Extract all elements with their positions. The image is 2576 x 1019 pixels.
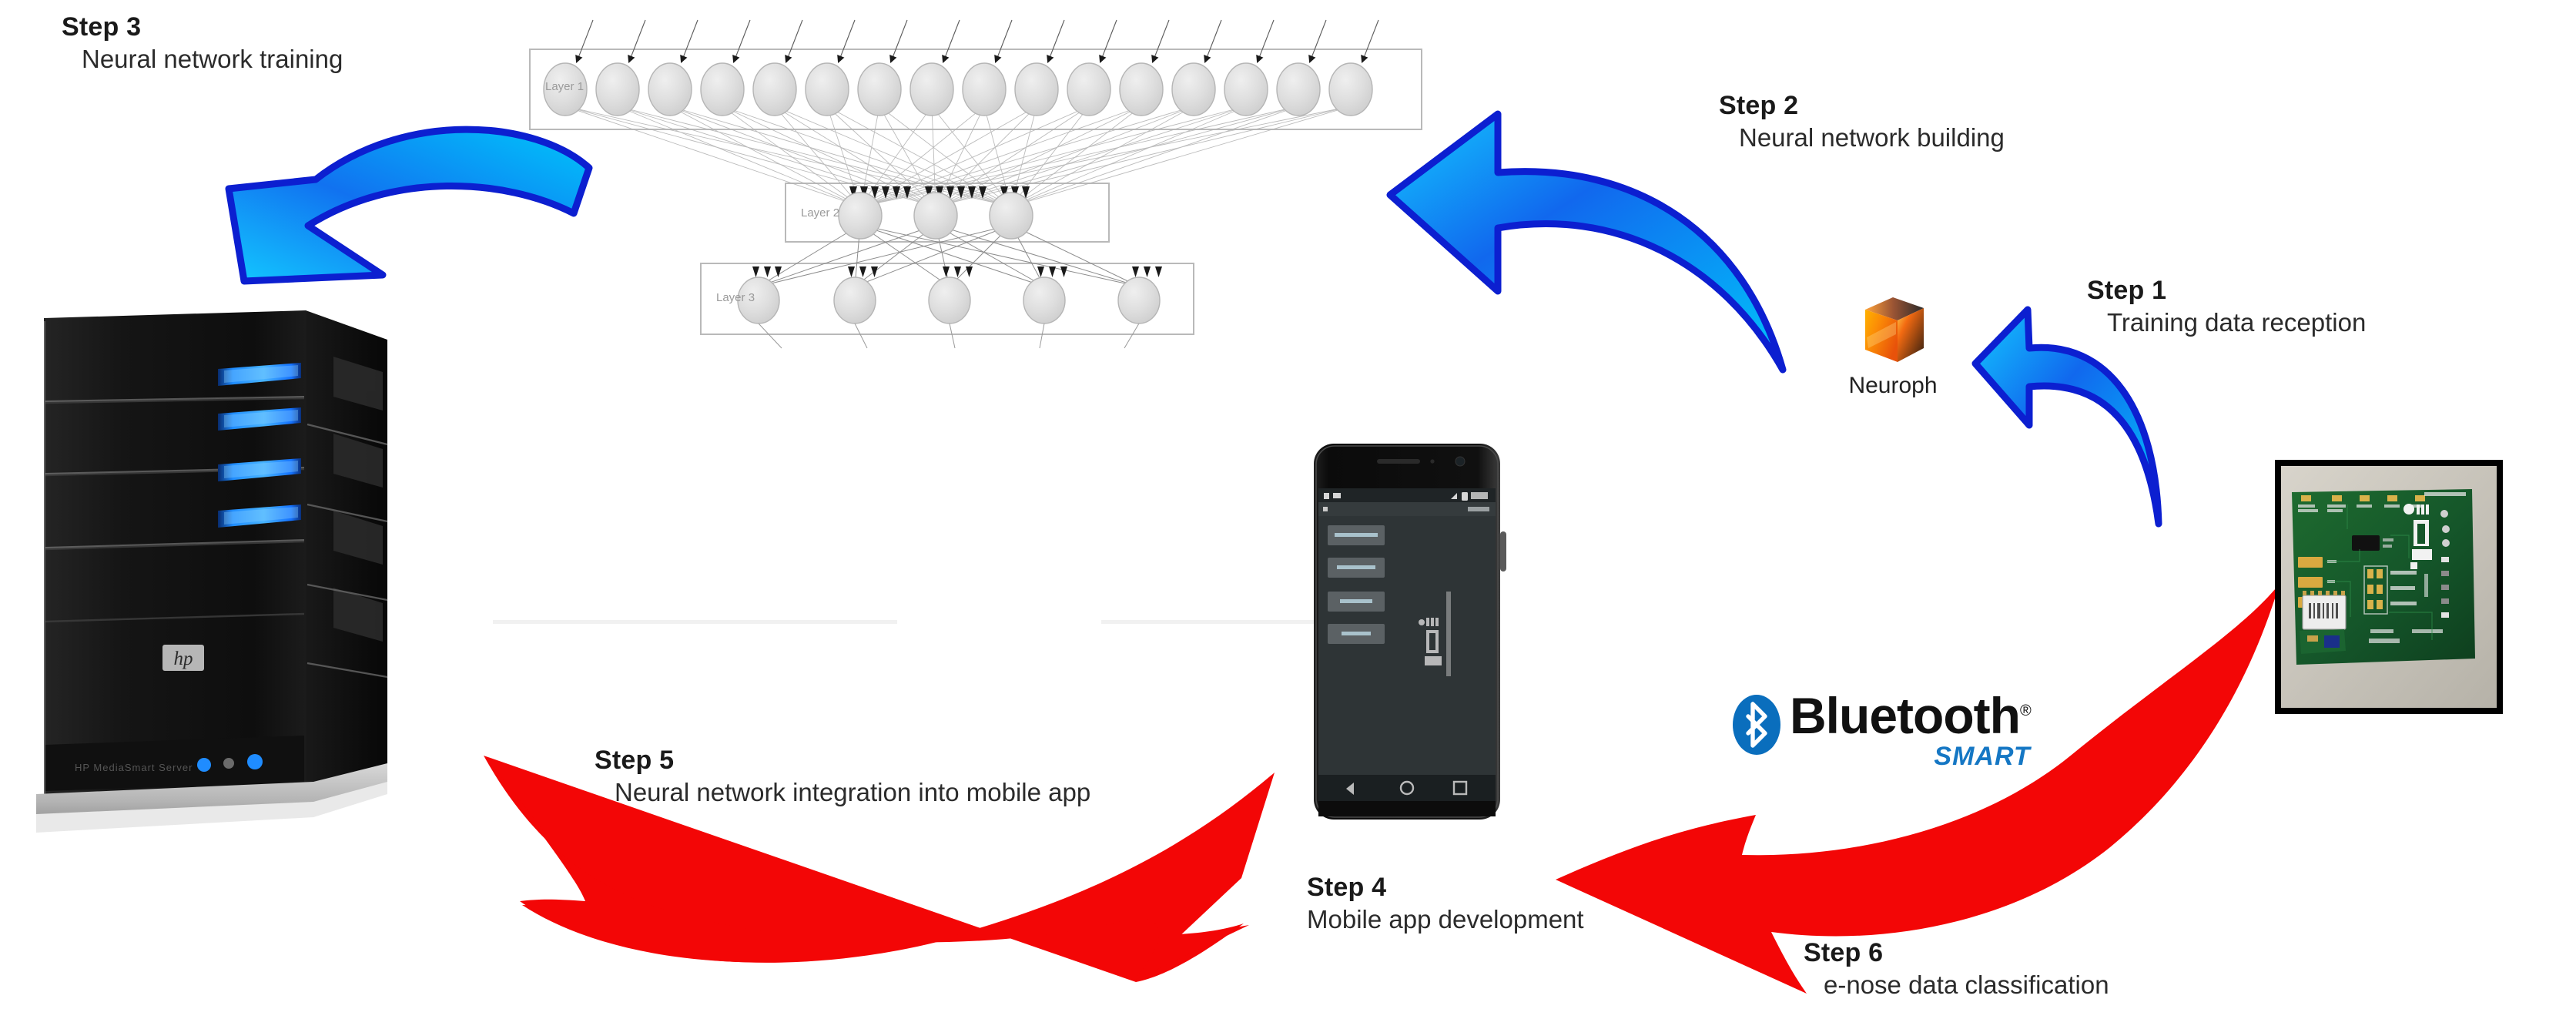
step-1-blue-arrow (1968, 293, 2260, 547)
neuron (1118, 277, 1160, 323)
registered-mark: ® (2020, 702, 2031, 719)
step-3-label: Step 3 Neural network training (62, 12, 343, 74)
neuron (1023, 277, 1065, 323)
neuron (1015, 63, 1058, 116)
neuroph-label: Neuroph (1808, 373, 1978, 399)
svg-text:hp: hp (174, 649, 193, 669)
proximity-sensor (1430, 459, 1434, 463)
neuron (1329, 63, 1372, 116)
layer-2-neurons (839, 193, 1033, 239)
navigation-bar[interactable] (1318, 775, 1496, 801)
neuron (753, 63, 796, 116)
neuron (1120, 63, 1163, 116)
neuron (929, 277, 970, 323)
step-3-number: Step 3 (62, 12, 343, 42)
diagram-canvas: Step 3 Neural network training Step 2 Ne… (0, 0, 2576, 1019)
bluetooth-word-text: Bluetooth (1790, 687, 2020, 744)
neuroph-cube-icon (1859, 294, 1927, 365)
step-3-description: Neural network training (62, 45, 343, 74)
layer1-to-layer2-edges (565, 106, 1351, 206)
neuron (914, 193, 957, 239)
bluetooth-smart-logo: Bluetooth® SMART (1733, 692, 2031, 772)
pcb-version-text (2424, 492, 2466, 496)
neuron (1224, 63, 1268, 116)
smartphone (1309, 441, 1533, 826)
neuron (990, 193, 1033, 239)
app-action-bar (1318, 502, 1496, 516)
neuron (839, 193, 882, 239)
pcb-ic-chip (2352, 535, 2380, 551)
earpiece (1377, 459, 1420, 464)
bluetooth-smart-sub: SMART (1780, 742, 2031, 772)
step-6-description: e-nose data classification (1804, 970, 2109, 1000)
power-button[interactable] (1500, 531, 1506, 572)
layer-1-label: Layer 1 (545, 80, 584, 93)
step-5-red-arrow (462, 736, 1317, 982)
neuron (834, 277, 876, 323)
hp-server: hp HP MediaSmart Server (27, 273, 412, 847)
bluetooth-icon (1733, 695, 1780, 755)
status-bar (1318, 488, 1496, 502)
neuron (910, 63, 953, 116)
layer-3-output-stubs (759, 323, 1139, 348)
hp-logo: hp (162, 645, 204, 671)
server-model-text: HP MediaSmart Server (75, 762, 193, 773)
layer-3-neurons (738, 277, 1160, 323)
neuron (1172, 63, 1215, 116)
neuron (806, 63, 849, 116)
step-2-blue-arrow (1382, 99, 1868, 399)
layer-1-input-arrows (577, 20, 1378, 62)
neuroph-logo: Neuroph (1808, 294, 1978, 399)
neuron (701, 63, 744, 116)
layer-2-label: Layer 2 (801, 206, 839, 220)
page-rule-left (493, 620, 897, 624)
layer-1-neurons (544, 63, 1372, 116)
neuron (1067, 63, 1110, 116)
front-camera (1455, 457, 1465, 466)
neuron (1277, 63, 1320, 116)
neuron (858, 63, 901, 116)
neuron (648, 63, 692, 116)
bluetooth-wordmark: Bluetooth® (1790, 692, 2031, 740)
enose-pcb-photo (2273, 458, 2543, 724)
pcb-led (2410, 562, 2417, 569)
neuron (963, 63, 1006, 116)
layer-3-label: Layer 3 (716, 291, 755, 304)
